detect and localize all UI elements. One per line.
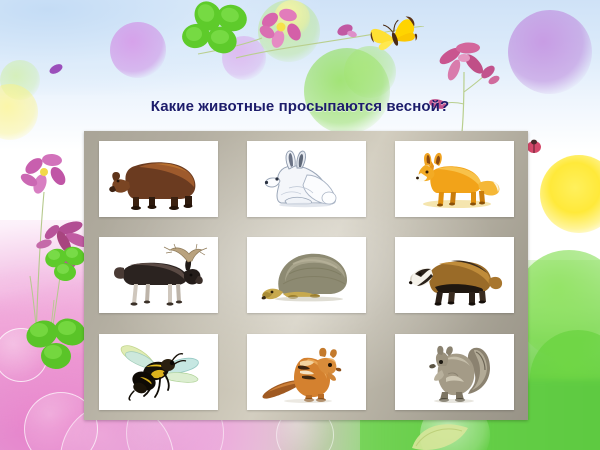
grid-cell (232, 227, 380, 323)
bokeh-circle (344, 46, 396, 98)
animal-card-hedgehog[interactable] (247, 237, 366, 313)
slide-canvas: Какие животные просыпаются весной? (0, 0, 600, 450)
badger-icon (401, 243, 507, 307)
animal-card-bee[interactable] (99, 334, 218, 410)
animal-card-chipmunk[interactable] (247, 334, 366, 410)
grid-cell (380, 131, 528, 227)
animal-card-moose[interactable] (99, 237, 218, 313)
small-bud-left (44, 58, 70, 80)
animal-card-squirrel[interactable] (395, 334, 514, 410)
animal-card-hare[interactable] (247, 141, 366, 217)
sky-highlight (0, 0, 320, 95)
pink-flower-left (10, 140, 90, 370)
pink-flower-top (254, 6, 310, 56)
hare-icon (255, 147, 357, 211)
bokeh-bubble (0, 328, 48, 382)
sky-gradient (0, 0, 600, 150)
grid-cell (380, 324, 528, 420)
flower-stem-top (236, 26, 426, 96)
grid-cell (84, 131, 232, 227)
bee-icon (110, 341, 206, 403)
grid-cell (232, 324, 380, 420)
bokeh-circle (258, 0, 320, 62)
bokeh-circle (222, 36, 266, 80)
moose-icon (106, 242, 210, 308)
clover-leaf-top (150, 0, 300, 76)
grid-cell (84, 227, 232, 323)
animal-grid (84, 131, 528, 420)
grid-cell (380, 227, 528, 323)
fox-icon (401, 147, 507, 211)
bokeh-circle (274, 0, 310, 36)
sun-circle (540, 155, 600, 233)
animal-card-bear[interactable] (99, 141, 218, 217)
butterfly-icon (366, 12, 424, 66)
chipmunk-icon (256, 340, 356, 404)
bokeh-circle (304, 48, 390, 134)
pink-flower-stem-right (420, 28, 510, 138)
grid-cell (232, 131, 380, 227)
small-bud-top (332, 18, 362, 44)
bokeh-circle (110, 22, 166, 78)
bokeh-circle (508, 10, 592, 94)
leaf-bottom-center (406, 418, 476, 450)
bear-icon (105, 146, 211, 212)
page-title: Какие животные просыпаются весной? (0, 98, 600, 115)
animal-card-badger[interactable] (395, 237, 514, 313)
hedgehog-icon (253, 244, 359, 306)
bokeh-circle (530, 330, 600, 426)
animal-grid-panel (84, 131, 528, 420)
animal-card-fox[interactable] (395, 141, 514, 217)
grid-cell (84, 324, 232, 420)
squirrel-icon (408, 340, 500, 404)
bokeh-circle (0, 60, 40, 100)
